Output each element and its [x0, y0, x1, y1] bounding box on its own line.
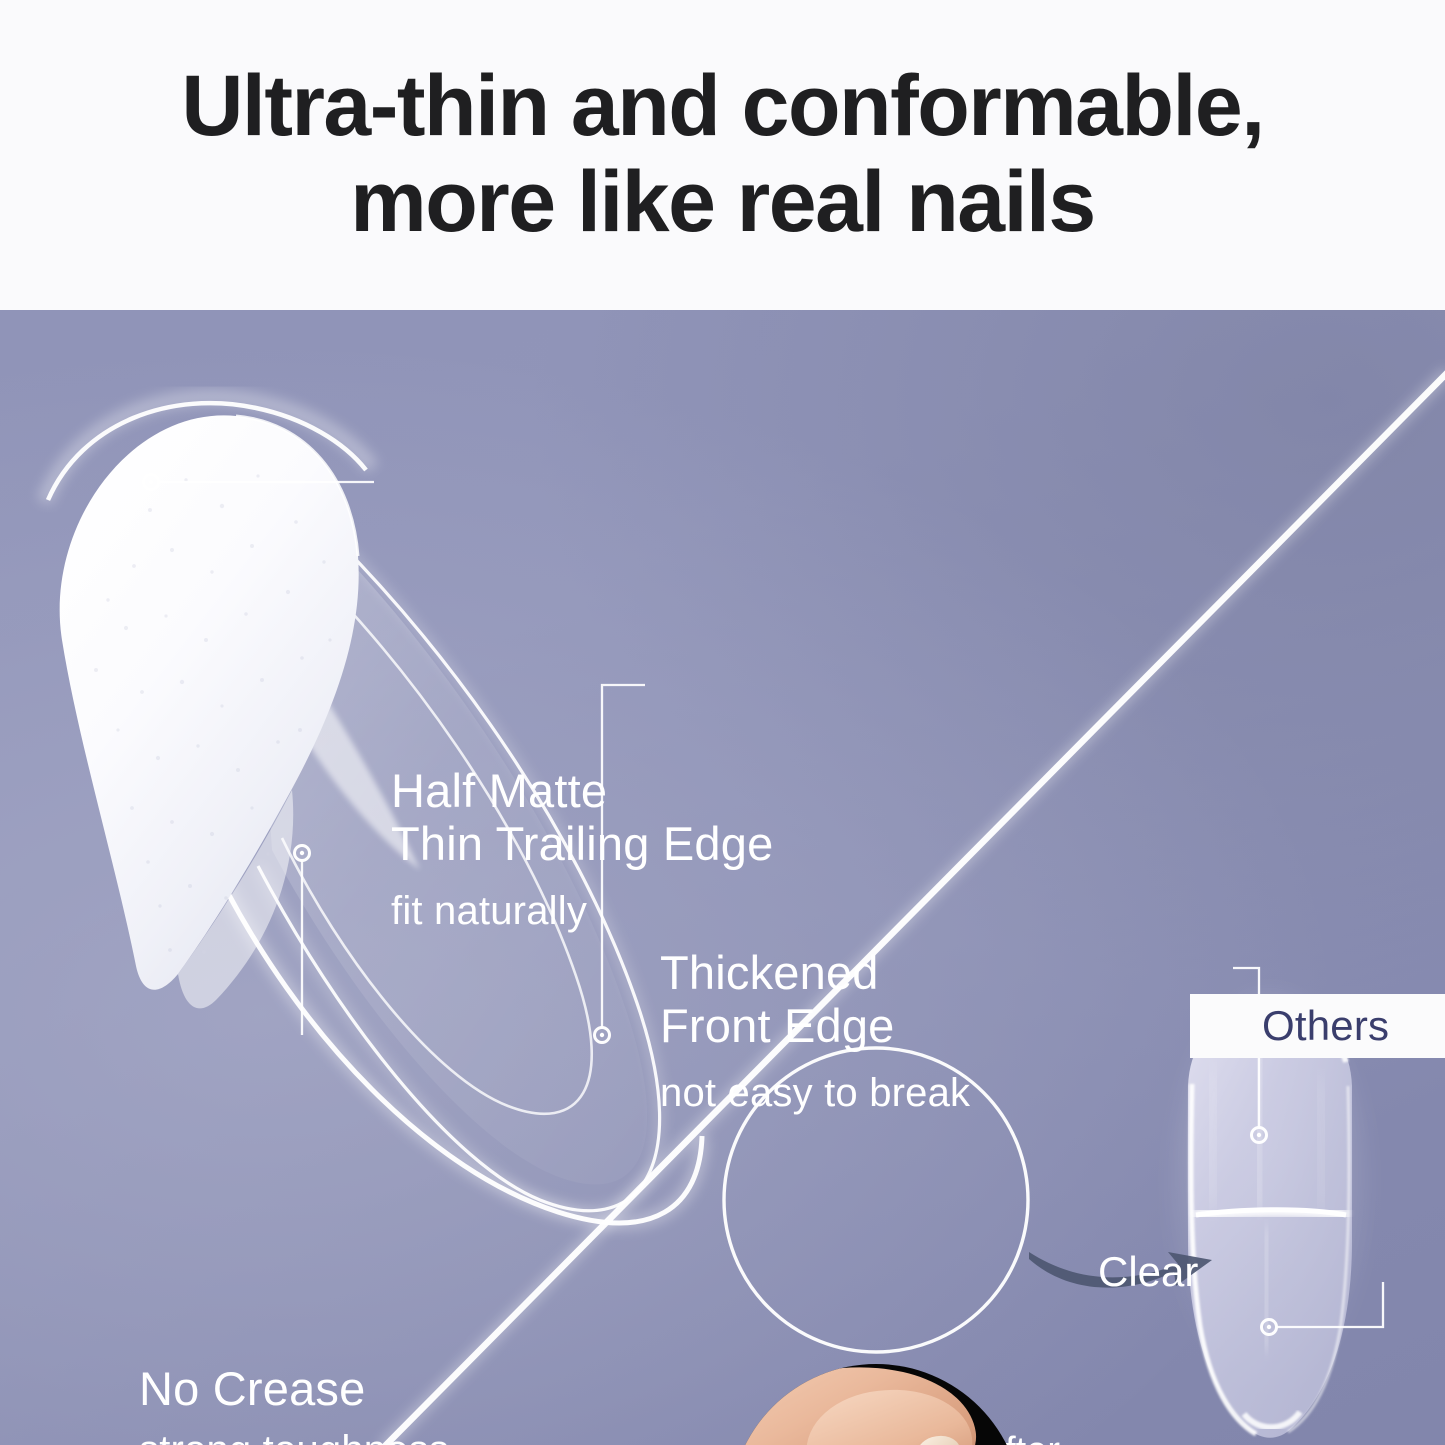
callout-title-no-crease: No Crease: [139, 1363, 365, 1416]
brand-badge-others: Others: [1190, 994, 1445, 1058]
product-infographic: Ultra-thin and conformable, more like re…: [0, 0, 1445, 1445]
header-band: Ultra-thin and conformable, more like re…: [0, 0, 1445, 310]
page-title: Ultra-thin and conformable, more like re…: [0, 58, 1445, 251]
callout-subtitle-strong-toughness: strong toughness: [139, 1427, 449, 1445]
brand-badge-others-label: Others: [1262, 1002, 1389, 1050]
callout-title-clear: Clear: [1098, 1248, 1198, 1296]
callout-title-thickened-front-edge: Thickened Front Edge: [660, 947, 895, 1052]
comparison-stage: Half Matte Thin Trailing Edge fit natura…: [0, 310, 1445, 1445]
abs-nail-illustration: [1172, 994, 1368, 1438]
callout-subtitle-fit-naturally: fit naturally: [391, 888, 587, 934]
callout-title-half-matte: Half Matte Thin Trailing Edge: [391, 765, 773, 870]
callout-subtitle-not-easy-to-break: not easy to break: [660, 1070, 970, 1116]
stage-artwork: [0, 310, 1445, 1445]
